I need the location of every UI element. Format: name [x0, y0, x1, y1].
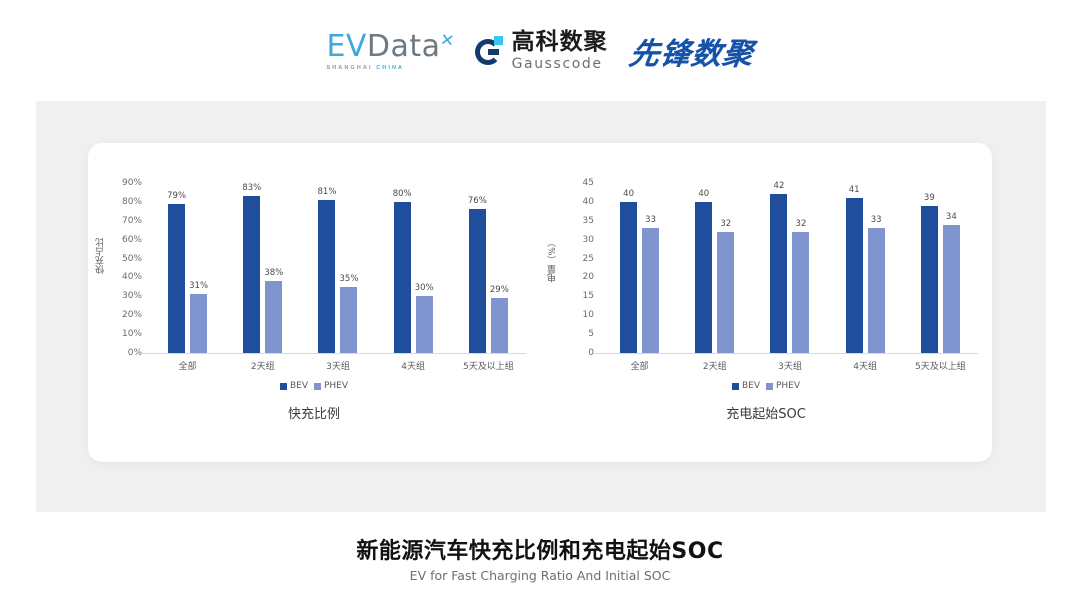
bar-value-label: 83%	[242, 183, 261, 193]
y-tick-label: 50%	[122, 254, 142, 264]
y-tick-label: 10%	[122, 329, 142, 339]
evdata-data-text: Data	[367, 29, 441, 64]
bar-value-label: 33	[645, 215, 656, 225]
evdata-ev-text: EV	[326, 29, 366, 64]
gausscode-square-icon	[494, 36, 503, 45]
bar-slot: 38%	[265, 183, 282, 353]
bar-slot: 40	[695, 183, 712, 353]
bar-value-label: 38%	[264, 268, 283, 278]
legend-item-phev[interactable]: PHEV	[314, 381, 348, 391]
gausscode-mark-icon	[475, 36, 505, 66]
legend-swatch-bev	[280, 383, 287, 390]
y-tick-label: 20%	[122, 310, 142, 320]
y-tick-label: 90%	[122, 178, 142, 188]
x-axis-categories: 全部2天组3天组4天组5天及以上组	[602, 359, 978, 372]
plot-area-initial-soc: 电量（%）05101520253035404540334032423241333…	[540, 155, 992, 383]
gausscode-bar-icon	[488, 49, 499, 55]
bar-bev[interactable]	[620, 202, 637, 353]
y-tick-label: 25	[583, 254, 594, 264]
charts-container: 快充占比0%10%20%30%40%50%60%70%80%90%79%31%8…	[88, 143, 992, 462]
y-axis-ticks: 051015202530354045	[540, 183, 594, 353]
bar-phev[interactable]	[340, 287, 357, 353]
chart-caption-initial-soc: 充电起始SOC	[540, 403, 992, 422]
chart-legend: BEVPHEV	[88, 381, 540, 391]
evdata-tagline-country: CHINA	[376, 65, 404, 71]
bar-value-label: 39	[924, 193, 935, 203]
bar-bev[interactable]	[168, 204, 185, 353]
bar-group: 76%29%	[451, 183, 526, 353]
legend-label-bev: BEV	[742, 381, 760, 391]
legend-label-bev: BEV	[290, 381, 308, 391]
legend-label-phev: PHEV	[776, 381, 800, 391]
legend-swatch-phev	[314, 383, 321, 390]
x-tick-label: 4天组	[828, 359, 903, 372]
legend-swatch-phev	[766, 383, 773, 390]
bar-slot: 30%	[416, 183, 433, 353]
bar-bev[interactable]	[318, 200, 335, 353]
bar-group: 83%38%	[225, 183, 300, 353]
legend-label-phev: PHEV	[324, 381, 348, 391]
legend-swatch-bev	[732, 383, 739, 390]
bar-slot: 83%	[243, 183, 260, 353]
bar-slot: 31%	[190, 183, 207, 353]
bar-slot: 35%	[340, 183, 357, 353]
x-axis-line	[594, 353, 978, 354]
xianfeng-cn-text: 先锋数聚	[626, 29, 756, 73]
bar-bev[interactable]	[469, 209, 486, 353]
bar-value-label: 41	[849, 185, 860, 195]
y-tick-label: 45	[583, 178, 594, 188]
bar-slot: 40	[620, 183, 637, 353]
y-tick-label: 30%	[122, 291, 142, 301]
bar-value-label: 79%	[167, 191, 186, 201]
x-tick-label: 4天组	[376, 359, 451, 372]
bar-group: 79%31%	[150, 183, 225, 353]
bar-value-label: 40	[623, 189, 634, 199]
evdata-logo: EVData ✕ SHANGHAI CHINA	[326, 32, 452, 71]
bar-value-label: 80%	[393, 189, 412, 199]
x-tick-label: 3天组	[300, 359, 375, 372]
bar-phev[interactable]	[265, 281, 282, 353]
bar-value-label: 34	[946, 212, 957, 222]
gausscode-text: 高科数聚 Gausscode	[512, 31, 608, 71]
x-tick-label: 全部	[150, 359, 225, 372]
x-tick-label: 3天组	[752, 359, 827, 372]
bar-value-label: 81%	[318, 187, 337, 197]
plot-area-fast-charging-ratio: 快充占比0%10%20%30%40%50%60%70%80%90%79%31%8…	[88, 155, 540, 383]
bar-slot: 42	[770, 183, 787, 353]
legend-item-phev[interactable]: PHEV	[766, 381, 800, 391]
bar-phev[interactable]	[943, 225, 960, 353]
chart-legend: BEVPHEV	[540, 381, 992, 391]
bar-slot: 32	[717, 183, 734, 353]
bar-group: 80%30%	[376, 183, 451, 353]
bar-slot: 33	[642, 183, 659, 353]
bar-slot: 80%	[394, 183, 411, 353]
charts-card: 快充占比0%10%20%30%40%50%60%70%80%90%79%31%8…	[88, 143, 992, 462]
bar-phev[interactable]	[717, 232, 734, 353]
chart-caption-fast-charging-ratio: 快充比例	[88, 403, 540, 422]
bar-value-label: 33	[871, 215, 882, 225]
bar-slot: 39	[921, 183, 938, 353]
y-axis-ticks: 0%10%20%30%40%50%60%70%80%90%	[88, 183, 142, 353]
bar-slot: 76%	[469, 183, 486, 353]
gausscode-en-text: Gausscode	[512, 57, 608, 71]
y-tick-label: 15	[583, 291, 594, 301]
bar-value-label: 35%	[340, 274, 359, 284]
y-tick-label: 10	[583, 310, 594, 320]
chart-initial-soc: 电量（%）05101520253035404540334032423241333…	[540, 143, 992, 462]
y-tick-label: 0%	[128, 348, 142, 358]
bar-slot: 32	[792, 183, 809, 353]
x-tick-label: 2天组	[677, 359, 752, 372]
xianfeng-logo: 先锋数聚	[630, 29, 754, 73]
bar-slot: 81%	[318, 183, 335, 353]
bar-slot: 33	[868, 183, 885, 353]
bar-group: 4133	[828, 183, 903, 353]
bar-value-label: 42	[774, 181, 785, 191]
bar-value-label: 32	[796, 219, 807, 229]
evdata-tagline-city: SHANGHAI	[326, 65, 376, 71]
bar-bev[interactable]	[770, 194, 787, 353]
bar-value-label: 29%	[490, 285, 509, 295]
x-tick-label: 2天组	[225, 359, 300, 372]
bar-slot: 29%	[491, 183, 508, 353]
bar-groups: 79%31%83%38%81%35%80%30%76%29%	[150, 183, 526, 353]
bar-group: 4232	[752, 183, 827, 353]
bar-slot: 34	[943, 183, 960, 353]
bar-bev[interactable]	[394, 202, 411, 353]
bar-phev[interactable]	[491, 298, 508, 353]
y-tick-label: 20	[583, 272, 594, 282]
y-tick-label: 30	[583, 235, 594, 245]
bar-groups: 40334032423241333934	[602, 183, 978, 353]
bar-phev[interactable]	[792, 232, 809, 353]
bar-phev[interactable]	[190, 294, 207, 353]
x-axis-categories: 全部2天组3天组4天组5天及以上组	[150, 359, 526, 372]
bar-bev[interactable]	[695, 202, 712, 353]
bar-value-label: 30%	[415, 283, 434, 293]
y-tick-label: 35	[583, 216, 594, 226]
gausscode-logo: 高科数聚 Gausscode	[475, 31, 608, 71]
legend-item-bev[interactable]: BEV	[732, 381, 760, 391]
evdata-wordmark: EVData ✕	[326, 32, 440, 62]
bar-phev[interactable]	[416, 296, 433, 353]
y-tick-label: 40	[583, 197, 594, 207]
bar-value-label: 31%	[189, 281, 208, 291]
y-tick-label: 40%	[122, 272, 142, 282]
slide-root: EVData ✕ SHANGHAI CHINA 高科数聚 Gausscode 先…	[0, 0, 1080, 608]
bar-phev[interactable]	[642, 228, 659, 353]
page-subtitle: EV for Fast Charging Ratio And Initial S…	[0, 568, 1080, 583]
bar-phev[interactable]	[868, 228, 885, 353]
bar-slot: 41	[846, 183, 863, 353]
x-tick-label: 5天及以上组	[451, 359, 526, 372]
bar-value-label: 76%	[468, 196, 487, 206]
bar-group: 3934	[903, 183, 978, 353]
bar-value-label: 32	[720, 219, 731, 229]
bar-slot: 79%	[168, 183, 185, 353]
y-tick-label: 5	[588, 329, 594, 339]
y-tick-label: 70%	[122, 216, 142, 226]
bar-bev[interactable]	[243, 196, 260, 353]
page-title: 新能源汽车快充比例和充电起始SOC	[0, 533, 1080, 565]
x-tick-label: 全部	[602, 359, 677, 372]
bar-value-label: 40	[698, 189, 709, 199]
bar-group: 81%35%	[300, 183, 375, 353]
bar-bev[interactable]	[846, 198, 863, 353]
chart-fast-charging-ratio: 快充占比0%10%20%30%40%50%60%70%80%90%79%31%8…	[88, 143, 540, 462]
bar-bev[interactable]	[921, 206, 938, 353]
logo-strip: EVData ✕ SHANGHAI CHINA 高科数聚 Gausscode 先…	[0, 22, 1080, 80]
x-mark-icon: ✕	[438, 25, 457, 57]
bar-group: 4032	[677, 183, 752, 353]
evdata-tagline: SHANGHAI CHINA	[326, 65, 404, 71]
bar-group: 4033	[602, 183, 677, 353]
y-tick-label: 60%	[122, 235, 142, 245]
gausscode-cn-text: 高科数聚	[512, 31, 608, 54]
legend-item-bev[interactable]: BEV	[280, 381, 308, 391]
y-tick-label: 80%	[122, 197, 142, 207]
x-tick-label: 5天及以上组	[903, 359, 978, 372]
x-axis-line	[142, 353, 526, 354]
